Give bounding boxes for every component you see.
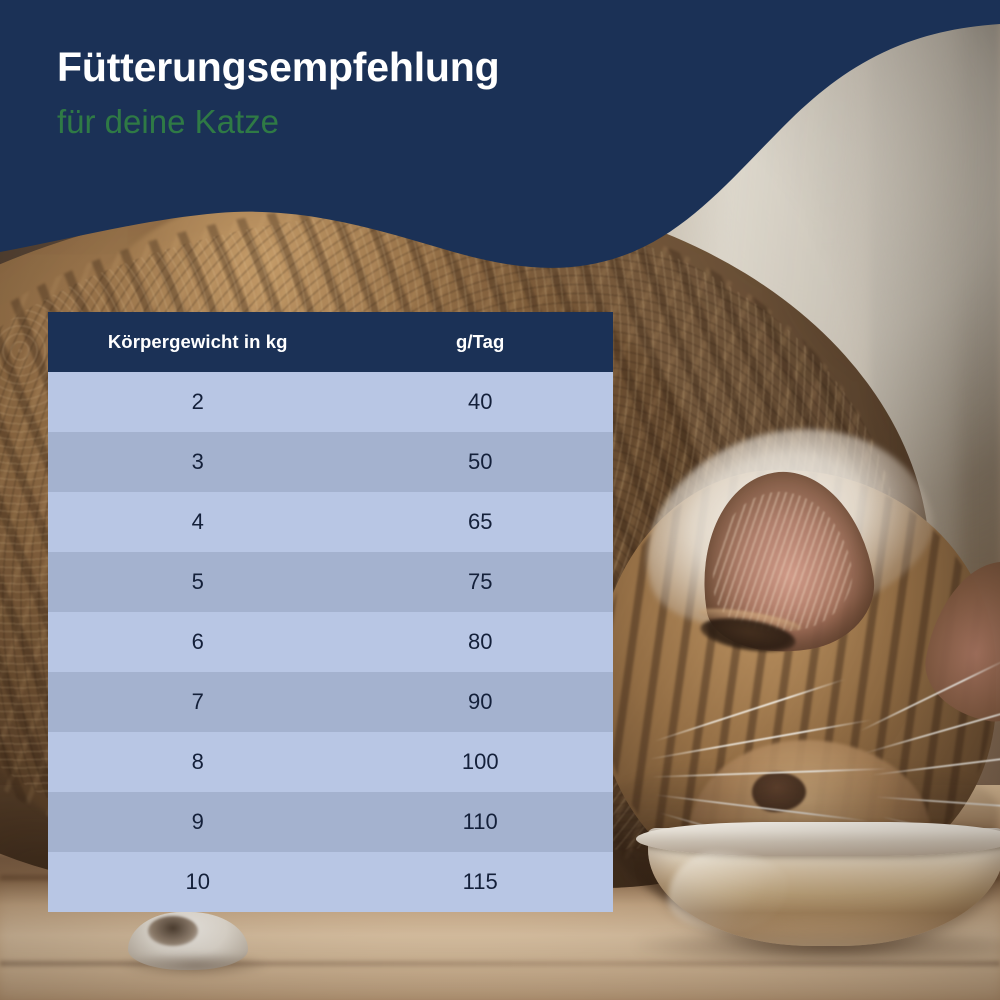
cell-grams-per-day: 65 — [347, 492, 613, 552]
table-row: 9110 — [48, 792, 613, 852]
cell-grams-per-day: 115 — [347, 852, 613, 912]
column-header-bodyweight: Körpergewicht in kg — [48, 312, 347, 372]
hero-banner: Fütterungsempfehlung für deine Katze — [0, 0, 1000, 320]
table-row: 350 — [48, 432, 613, 492]
table-row: 575 — [48, 552, 613, 612]
table-body: 2403504655756807908100911010115 — [48, 372, 613, 912]
cell-grams-per-day: 40 — [347, 372, 613, 432]
cell-bodyweight: 3 — [48, 432, 347, 492]
table-row: 680 — [48, 612, 613, 672]
feeding-recommendation-table: Körpergewicht in kg g/Tag 24035046557568… — [48, 312, 613, 912]
table-row: 240 — [48, 372, 613, 432]
table-row: 465 — [48, 492, 613, 552]
cell-bodyweight: 5 — [48, 552, 347, 612]
column-header-grams-per-day: g/Tag — [347, 312, 613, 372]
table-row: 790 — [48, 672, 613, 732]
page-title: Fütterungsempfehlung — [57, 44, 697, 91]
cell-bodyweight: 2 — [48, 372, 347, 432]
cell-grams-per-day: 50 — [347, 432, 613, 492]
page-subtitle: für deine Katze — [57, 102, 697, 142]
cell-bodyweight: 4 — [48, 492, 347, 552]
cell-bodyweight: 10 — [48, 852, 347, 912]
cell-bodyweight: 7 — [48, 672, 347, 732]
cell-bodyweight: 6 — [48, 612, 347, 672]
table-header-row: Körpergewicht in kg g/Tag — [48, 312, 613, 372]
cell-grams-per-day: 80 — [347, 612, 613, 672]
hero-text-block: Fütterungsempfehlung für deine Katze — [57, 44, 697, 142]
table-row: 10115 — [48, 852, 613, 912]
cell-grams-per-day: 90 — [347, 672, 613, 732]
cell-grams-per-day: 75 — [347, 552, 613, 612]
cell-grams-per-day: 110 — [347, 792, 613, 852]
table-header: Körpergewicht in kg g/Tag — [48, 312, 613, 372]
table-row: 8100 — [48, 732, 613, 792]
cell-grams-per-day: 100 — [347, 732, 613, 792]
cell-bodyweight: 9 — [48, 792, 347, 852]
cell-bodyweight: 8 — [48, 732, 347, 792]
